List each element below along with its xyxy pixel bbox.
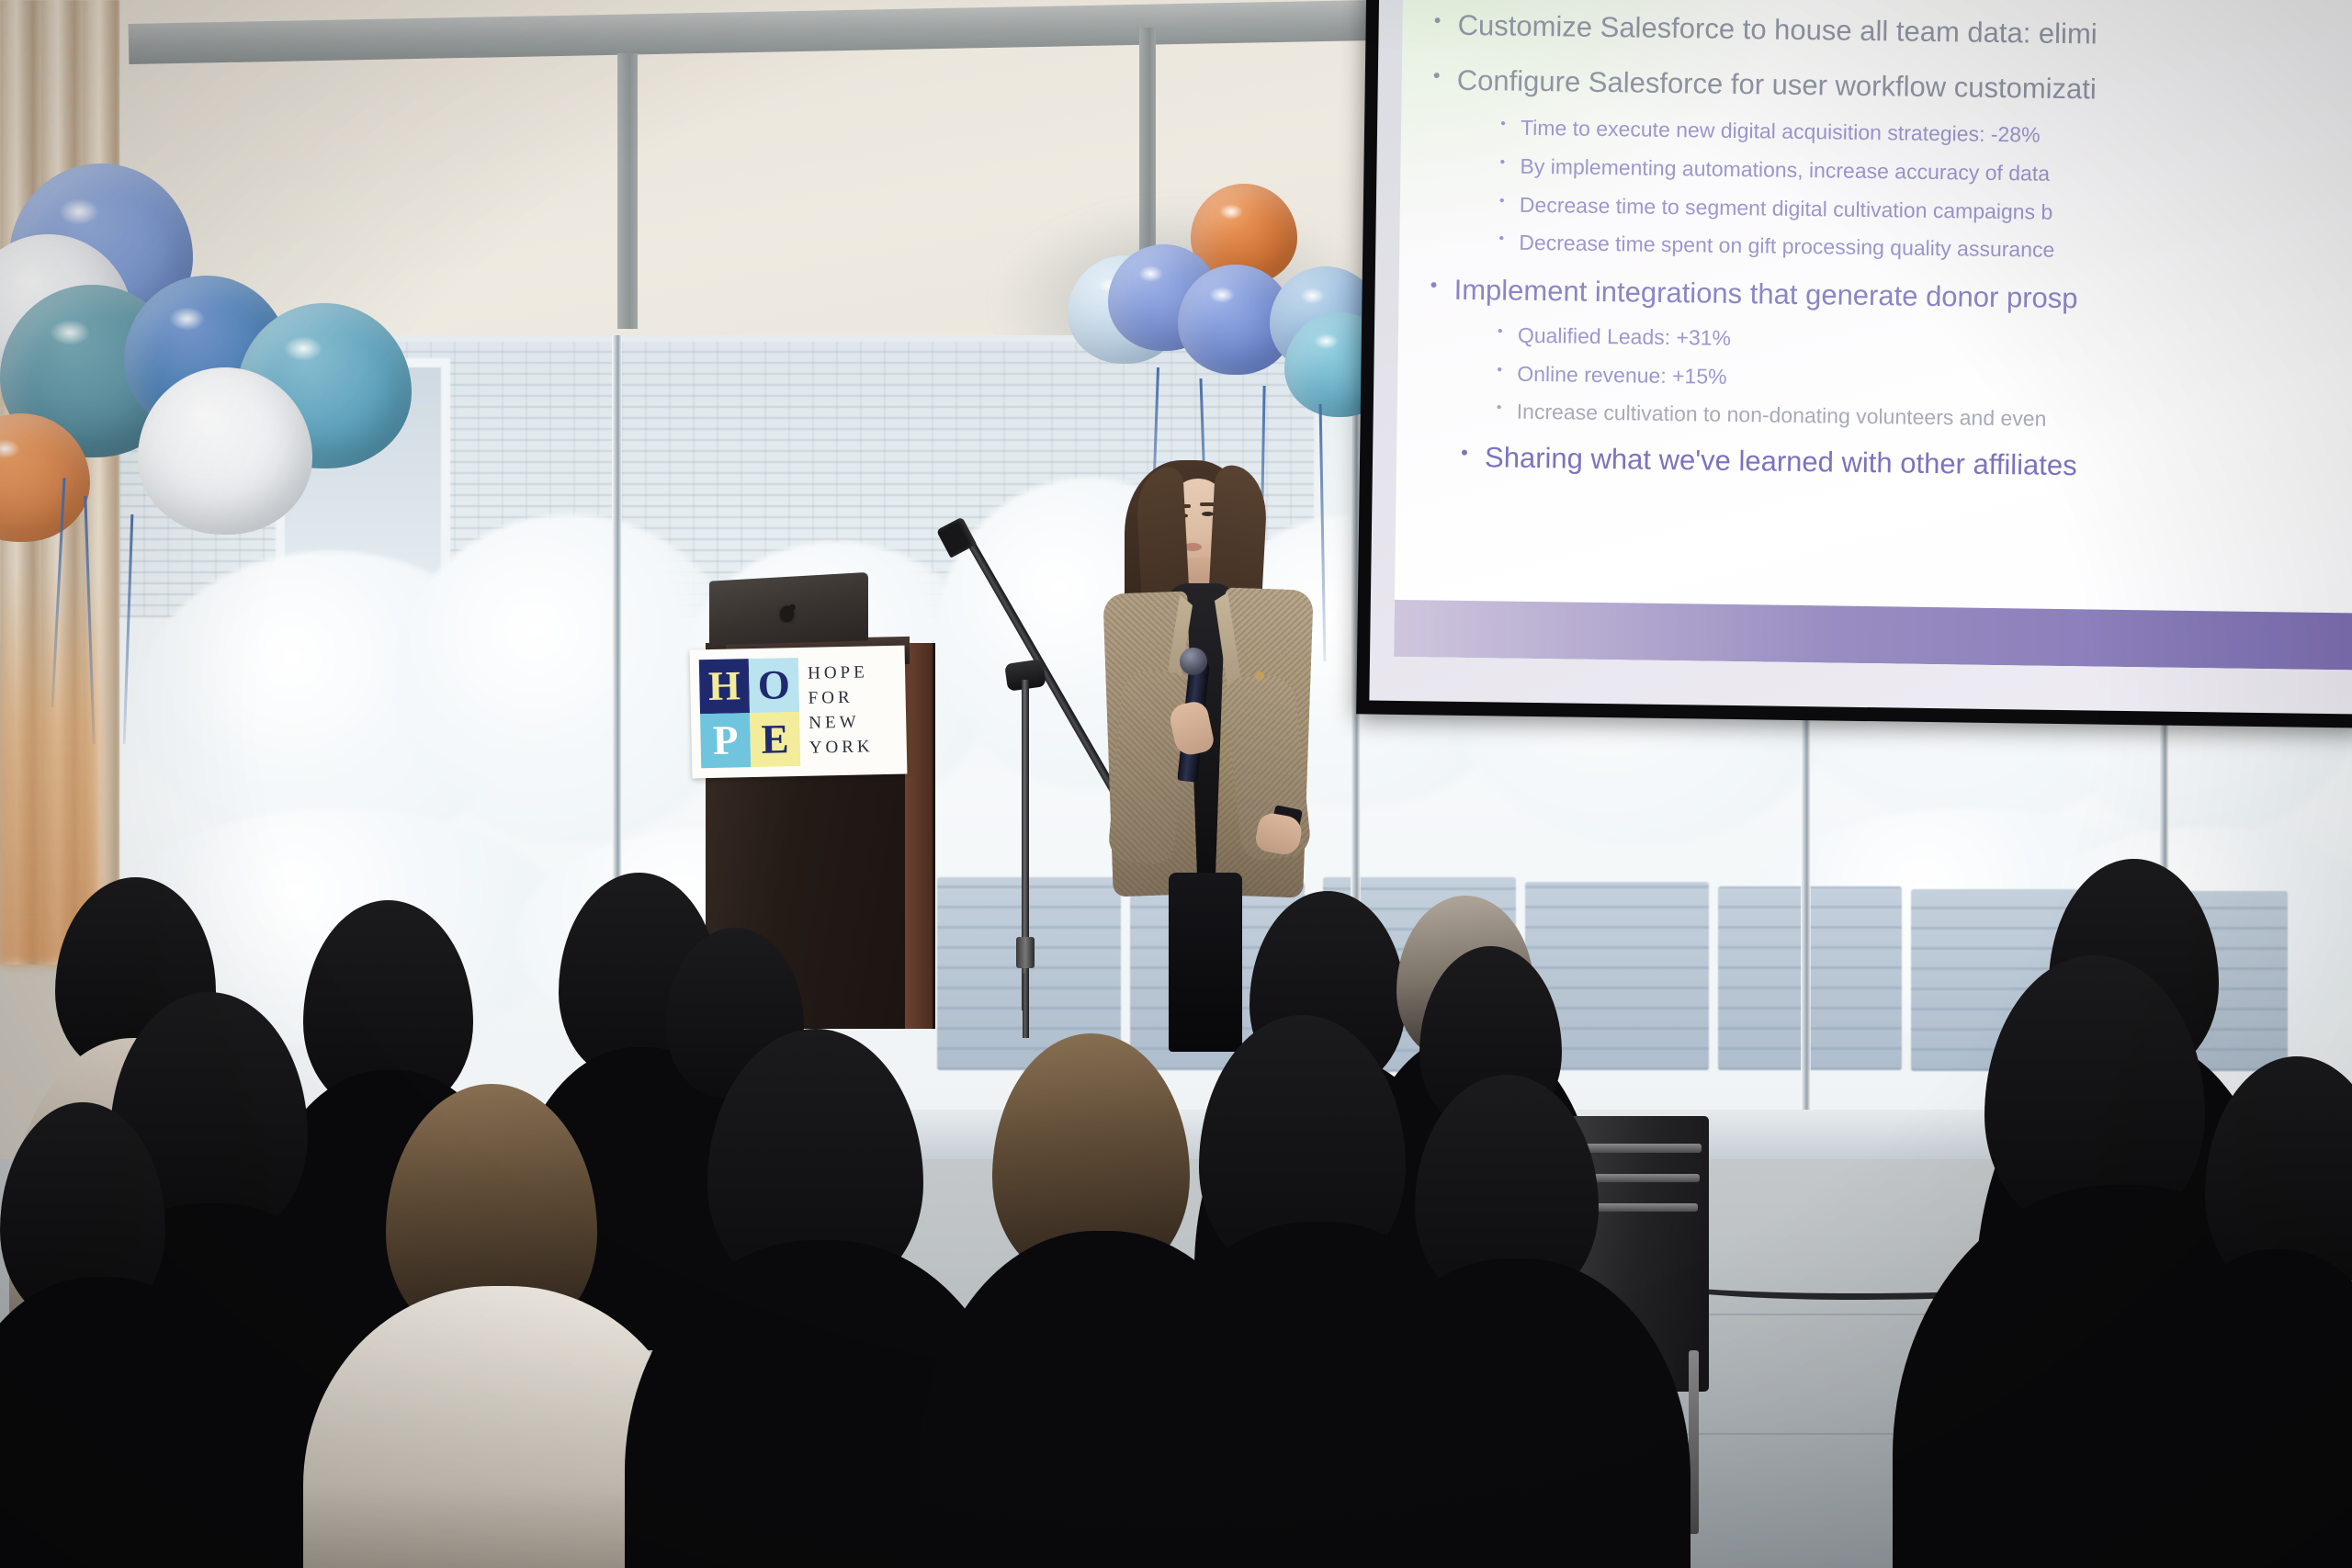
organization-name: HOPE FOR NEW YORK [808, 660, 874, 761]
slide-subbullet-5: • Qualified Leads: +31% [1398, 322, 2352, 359]
org-line-3: NEW [808, 710, 873, 736]
slide-subbullet-7: • Increase cultivation to non-donating v… [1397, 399, 2352, 435]
projection-screen-frame: • Hold discovery sessions: analyze curre… [1356, 0, 2352, 728]
slide-bullet-text: Decrease time to segment digital cultiva… [1520, 193, 2053, 224]
logo-letter-p: P [700, 713, 751, 768]
logo-letter-e: E [750, 712, 800, 767]
bullet-glyph: • [1497, 362, 1517, 378]
slide-subbullet-1: • Time to execute new digital acquisitio… [1401, 115, 2352, 152]
bullet-glyph: • [1499, 193, 1520, 209]
wall-beam-vertical-left [617, 53, 638, 329]
speaker-trousers [1169, 873, 1242, 1052]
bullet-glyph: • [1498, 323, 1518, 340]
slide-bullet-text: By implementing automations, increase ac… [1520, 155, 2050, 186]
bullet-glyph: • [1433, 65, 1457, 88]
apple-logo-icon [780, 605, 794, 622]
hope-for-new-york-sign: H O P E HOPE FOR NEW YORK [690, 646, 908, 779]
bullet-glyph: • [1434, 9, 1458, 32]
slide-bullet-text: Online revenue: +15% [1517, 362, 1727, 389]
bullet-glyph: • [1500, 117, 1521, 133]
slide-bullet-5: • Sharing what we've learned with other … [1396, 441, 2352, 486]
slide-bullet-3: • Configure Salesforce for user workflow… [1402, 64, 2352, 109]
microphone-stand-lower-pole [1023, 974, 1029, 1038]
podium-right-edge [905, 643, 933, 1029]
bullet-glyph: • [1499, 154, 1520, 171]
slide-bullet-text: Decrease time spent on gift processing q… [1519, 231, 2054, 263]
slide-bullet-4: • Implement integrations that generate d… [1398, 274, 2352, 319]
slide-bullet-text: Sharing what we've learned with other af… [1485, 442, 2077, 482]
slide-bullet-2: • Customize Salesforce to house all team… [1402, 9, 2352, 54]
slide-subbullet-4: • Decrease time spent on gift processing… [1399, 230, 2352, 266]
presentation-photo-scene: H O P E HOPE FOR NEW YORK [0, 0, 2352, 1568]
macbook-laptop [709, 572, 868, 645]
org-line-4: YORK [809, 735, 874, 761]
logo-letter-o: O [749, 658, 799, 713]
slide-bullet-text: Qualified Leads: +31% [1518, 324, 1731, 351]
presentation-slide: • Hold discovery sessions: analyze curre… [1394, 0, 2352, 670]
slide-bullet-text: Customize Salesforce to house all team d… [1457, 9, 2098, 50]
slide-bullet-text: Increase cultivation to non-donating vol… [1517, 400, 2047, 432]
projection-screen-surface: • Hold discovery sessions: analyze curre… [1369, 0, 2352, 714]
bullet-glyph: • [1461, 442, 1485, 465]
chair-back-rail [1573, 1144, 1702, 1153]
slide-subbullet-2: • By implementing automations, increase … [1400, 153, 2352, 190]
org-line-2: FOR [808, 685, 872, 711]
slide-subbullet-3: • Decrease time to segment digital culti… [1400, 192, 2352, 229]
slide-bullet-text: Configure Salesforce for user workflow c… [1457, 65, 2097, 106]
balloon-white [138, 367, 312, 535]
bullet-glyph: • [1497, 400, 1517, 417]
lapel-pin-icon [1255, 671, 1264, 681]
slide-bullet-list: • Hold discovery sessions: analyze curre… [1396, 0, 2352, 486]
slide-bullet-text: Implement integrations that generate don… [1453, 275, 2077, 315]
slide-accent-band [1394, 600, 2352, 671]
org-line-1: HOPE [808, 660, 872, 686]
logo-letter-h: H [699, 659, 750, 714]
bullet-glyph: • [1498, 231, 1519, 248]
microphone-stand-collar [1016, 937, 1035, 968]
bullet-glyph: • [1430, 275, 1454, 298]
slide-bullet-text: Time to execute new digital acquisition … [1521, 117, 2041, 148]
slide-subbullet-6: • Online revenue: +15% [1397, 361, 2352, 398]
hope-logo-grid: H O P E [699, 658, 800, 768]
